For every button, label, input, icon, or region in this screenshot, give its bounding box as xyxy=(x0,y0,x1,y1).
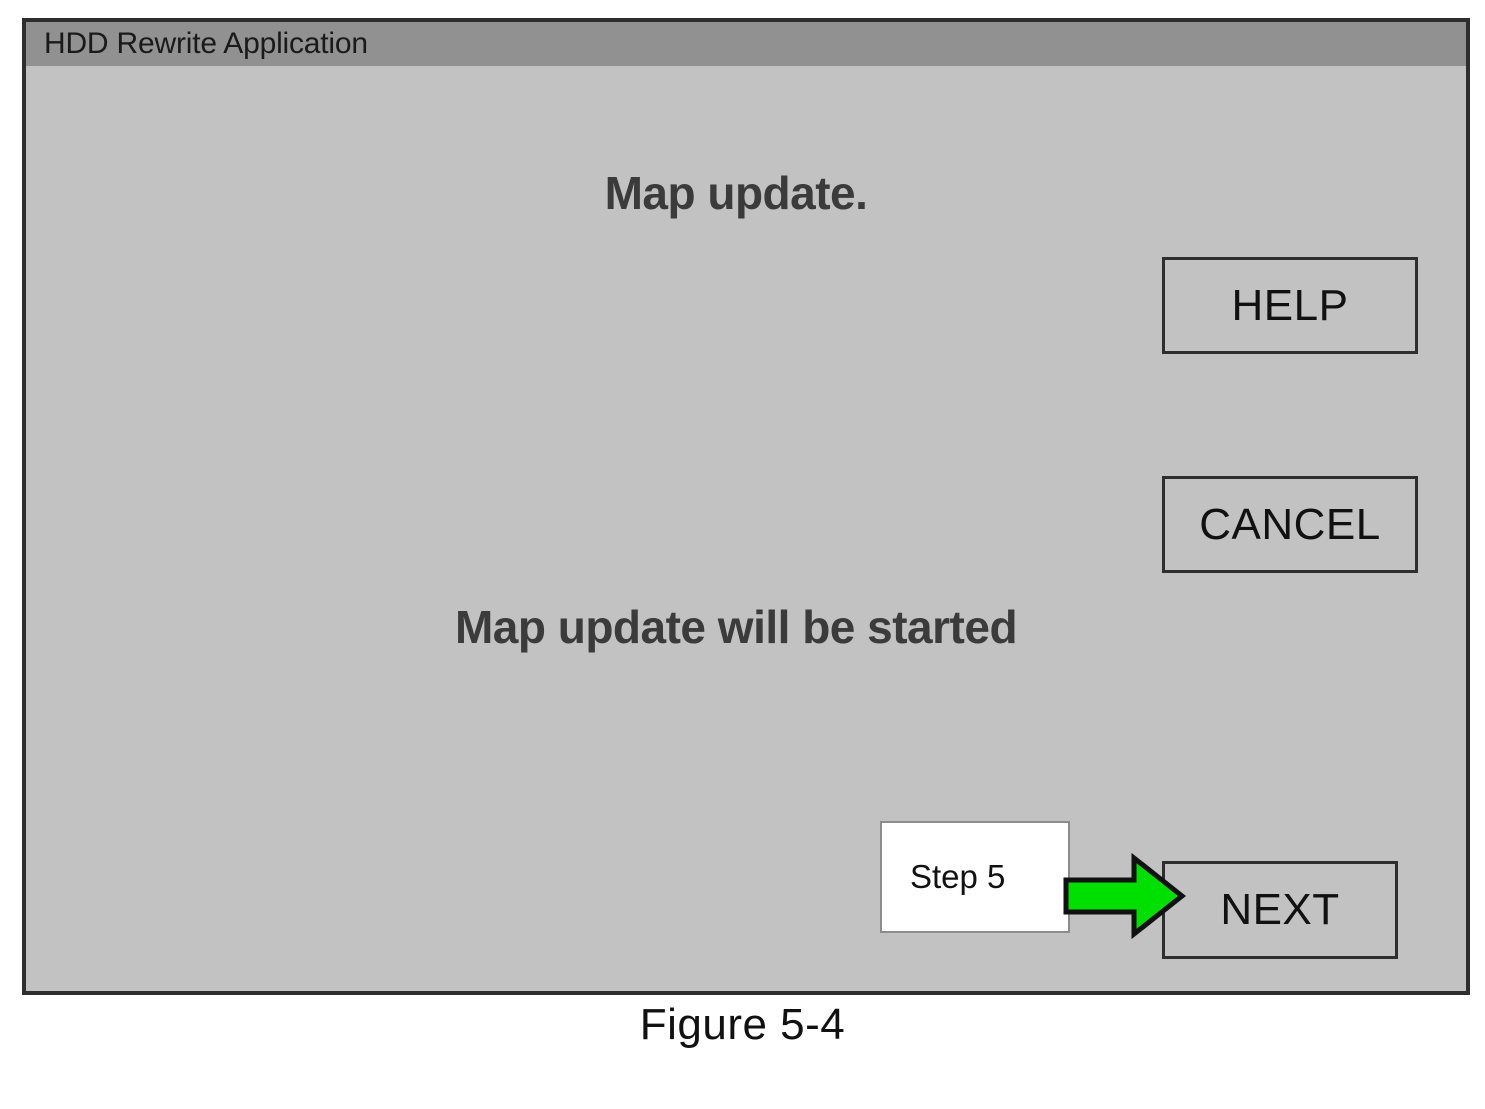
cancel-button[interactable]: CANCEL xyxy=(1162,476,1418,573)
window-title-bar: HDD Rewrite Application xyxy=(26,22,1466,67)
dialog-heading: Map update. xyxy=(605,166,868,220)
next-button[interactable]: NEXT xyxy=(1162,861,1398,959)
dialog-status-message: Map update will be started xyxy=(455,600,1017,654)
green-right-arrow-icon xyxy=(1064,852,1186,940)
hdd-rewrite-application-window: HDD Rewrite Application Map update. Map … xyxy=(22,18,1470,995)
dialog-client-area: Map update. Map update will be started H… xyxy=(26,66,1466,991)
help-button[interactable]: HELP xyxy=(1162,257,1418,354)
window-title: HDD Rewrite Application xyxy=(26,27,368,61)
step-callout-box: Step 5 xyxy=(880,821,1070,933)
figure-caption: Figure 5-4 xyxy=(0,1000,1485,1050)
step-callout-label: Step 5 xyxy=(882,858,1005,896)
arrow-shape xyxy=(1066,858,1182,934)
